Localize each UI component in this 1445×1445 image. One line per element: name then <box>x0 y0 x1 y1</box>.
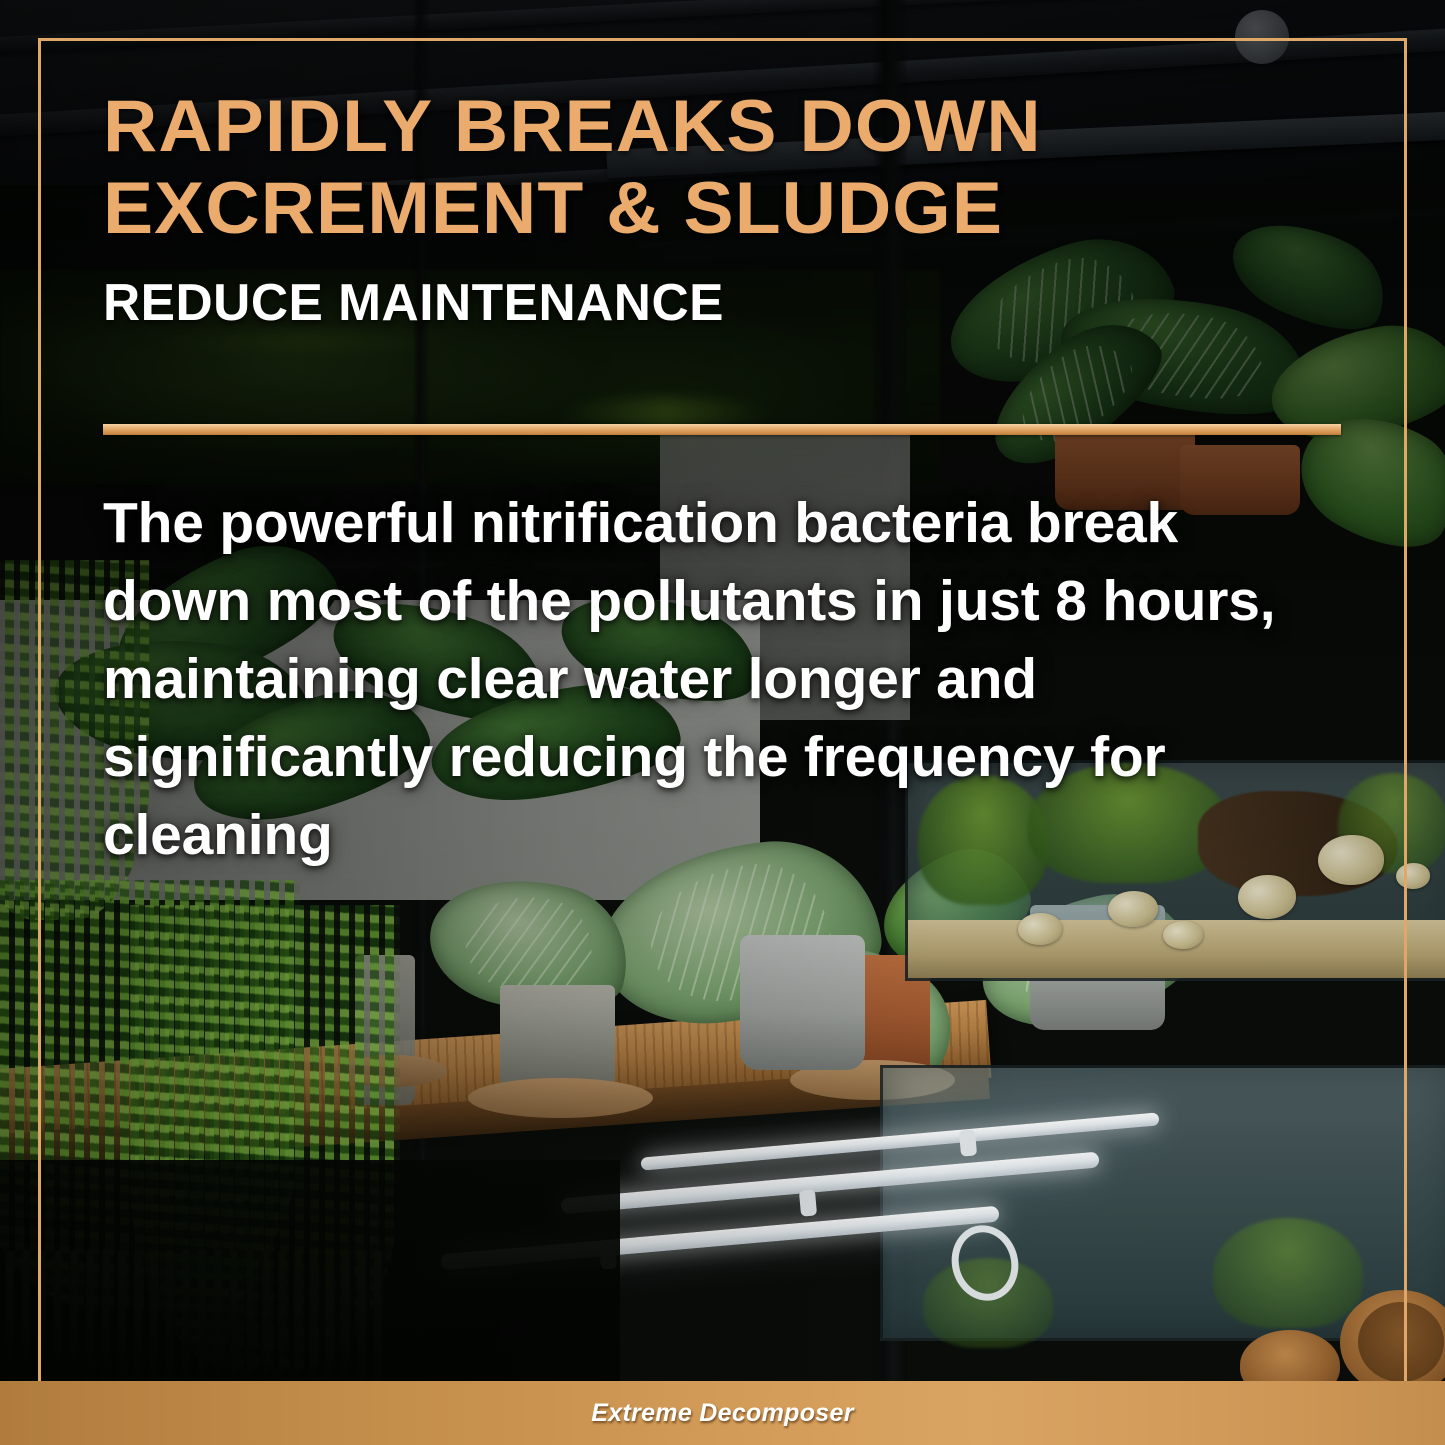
footer-bar: Extreme Decomposer <box>0 1381 1445 1445</box>
algae-streak <box>150 330 450 352</box>
tube-clip <box>799 1189 817 1216</box>
wooden-bowl-inner <box>1358 1302 1444 1382</box>
tube-clip <box>959 1129 977 1156</box>
pot-saucer <box>468 1078 653 1118</box>
fish <box>1163 921 1203 949</box>
fish <box>1396 863 1430 889</box>
shadowed-area <box>0 1160 620 1390</box>
gold-divider <box>103 424 1341 435</box>
product-name-label: Extreme Decomposer <box>591 1399 853 1428</box>
hanging-lamp-icon <box>1235 10 1289 64</box>
product-infographic: RAPIDLY BREAKS DOWN EXCREMENT & SLUDGE R… <box>0 0 1445 1445</box>
fish <box>1018 913 1062 945</box>
algae-streak <box>560 398 770 426</box>
body-copy: The powerful nitrification bacteria brea… <box>103 484 1333 874</box>
text-content-block: RAPIDLY BREAKS DOWN EXCREMENT & SLUDGE R… <box>103 86 1345 332</box>
fish <box>1238 875 1296 919</box>
subheading: REDUCE MAINTENANCE <box>103 275 1333 332</box>
aquatic-plant <box>1213 1218 1363 1328</box>
fish <box>1108 891 1158 927</box>
grey-pot <box>740 935 865 1070</box>
page-title: RAPIDLY BREAKS DOWN EXCREMENT & SLUDGE <box>103 86 1382 251</box>
open-aquarium <box>880 1065 1445 1341</box>
